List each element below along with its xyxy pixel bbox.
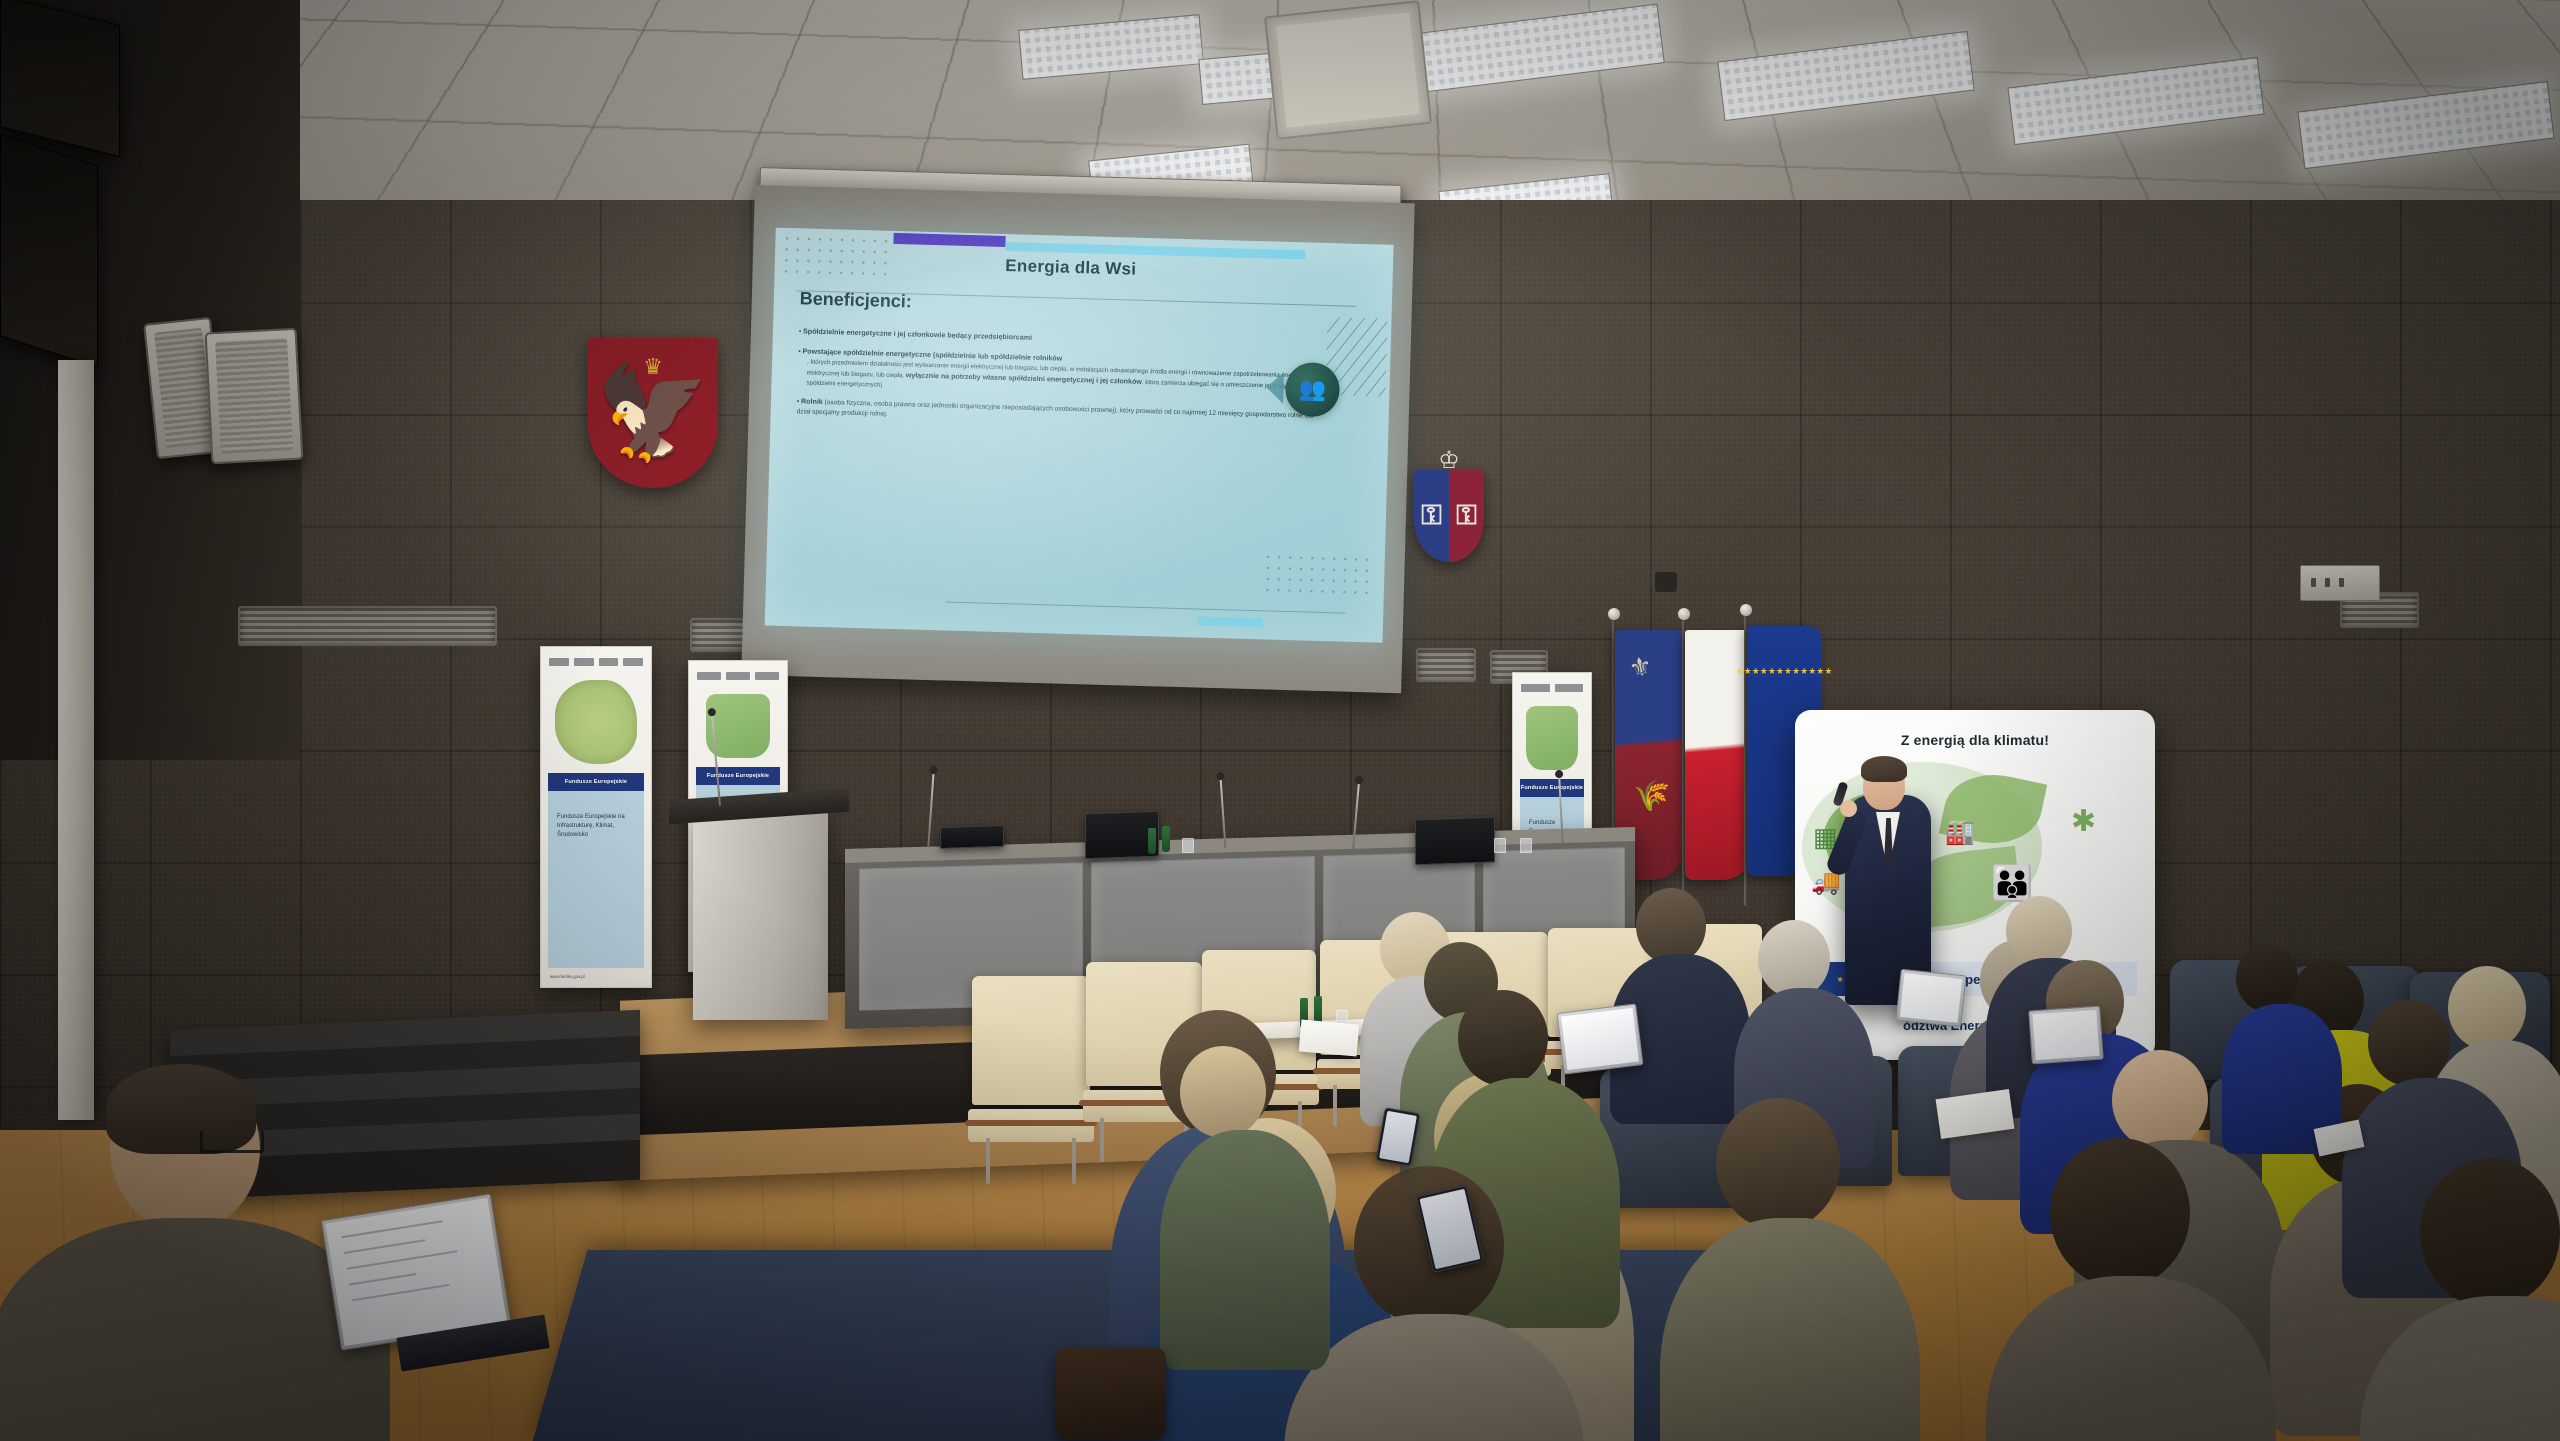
projection-screen: Energia dla Wsi Beneficjenci: • Spółdzie… <box>741 185 1414 693</box>
eagle-icon: 🦅 <box>596 367 711 459</box>
flag-finial-icon <box>1740 604 1752 616</box>
eyeglasses-icon <box>200 1130 264 1153</box>
rollup-illustration <box>1526 706 1577 770</box>
rollup-text: Fundusze Europejskie na Infrastrukturę, … <box>557 813 635 840</box>
loudspeaker <box>205 328 304 465</box>
wall-air-vent <box>238 606 497 646</box>
poland-map-graphic <box>555 680 636 764</box>
slide-dot-pattern-bottomright <box>1262 551 1371 598</box>
rollup-text-panel: Fundusze Europejskie na Infrastrukturę, … <box>548 791 644 968</box>
presentation-slide: Energia dla Wsi Beneficjenci: • Spółdzie… <box>765 228 1394 643</box>
drinking-glass <box>1494 838 1506 853</box>
wall-air-vent <box>1416 648 1476 682</box>
factory-icon: 🏭 <box>1945 818 1975 847</box>
ceiling-air-vent <box>1264 0 1432 140</box>
bullet-rest: (osoba fizyczna, osoba prawna oraz jedno… <box>797 399 1314 420</box>
rollup-strip-label: Fundusze Europejskie <box>1521 785 1583 791</box>
printed-handout <box>1299 1020 1360 1057</box>
slide-bottom-divider <box>945 601 1345 613</box>
regional-emblem-icon: ⚜ <box>1626 650 1655 685</box>
flag-poland <box>1682 620 1686 920</box>
rollup-strip: Fundusze Europejskie <box>696 767 780 785</box>
slide-triangle-accent <box>1266 371 1284 403</box>
desk-monitor <box>1415 817 1495 866</box>
flag-finial-icon <box>1608 608 1620 620</box>
rollup-strip-label: Fundusze Europejskie <box>565 779 627 785</box>
rollup-strip: Fundusze Europejskie <box>548 773 644 791</box>
wall-control-panel[interactable] <box>2300 565 2380 601</box>
slide-bottom-tab <box>1197 617 1263 628</box>
lectern <box>693 810 828 1020</box>
drinking-glass <box>1182 838 1194 853</box>
rollup-banner: Fundusze Europejskie Fundusze Europejski… <box>540 646 652 988</box>
slide-bullet-item: • Powstające spółdzielnie energetyczne (… <box>797 346 1318 402</box>
rollup-strip: Fundusze Europejskie <box>1520 779 1584 797</box>
wind-turbine-icon: ✱ <box>2071 804 2096 839</box>
drinking-glass <box>1520 838 1532 853</box>
rollup-url: www.feniks.gov.pl <box>550 974 642 979</box>
flag-finial-icon <box>1678 608 1690 620</box>
rollup-base <box>548 987 645 988</box>
stage-chair <box>972 976 1090 1184</box>
rollup-logo-row <box>549 654 643 670</box>
rollup-logo-row <box>1521 680 1583 696</box>
bullet-bold-lead: Rolnik <box>801 398 823 407</box>
wall-panel-dark <box>0 134 98 368</box>
flag-european-union: ★★★★★★★★★★★★ <box>1744 616 1748 906</box>
malopolska-coat-of-arms: ♔ ⚿⚿ <box>1414 470 1484 562</box>
tablet-device[interactable] <box>1557 1003 1644 1074</box>
presenter-hand <box>1840 800 1857 817</box>
crossed-keys-icon: ⚿⚿ <box>1414 470 1484 562</box>
water-bottle <box>1148 828 1156 854</box>
laptop-device[interactable] <box>2028 1006 2104 1065</box>
bullet-bold-lead: Spółdzielnie energetyczne i jej członkow… <box>803 327 1032 341</box>
wall-pillar <box>58 360 94 1120</box>
crown-icon: ♛ <box>643 354 663 380</box>
tablet-device[interactable] <box>1895 969 1966 1028</box>
slide-heading: Beneficjenci: <box>800 288 913 312</box>
water-bottle <box>1162 826 1170 852</box>
wheat-icon: 🌾 <box>1633 779 1670 814</box>
bullet-body-text: , których przedmiotem działalności jest … <box>806 358 1318 402</box>
slide-accent-bar-violet <box>893 233 1005 247</box>
slide-bullet-list: • Spółdzielnie energetyczne i jej członk… <box>796 326 1319 441</box>
wall-sensor-icon <box>1655 572 1677 592</box>
slide-corner-hatch <box>1325 317 1387 397</box>
presenter-hair <box>1861 756 1907 782</box>
rollup-logo-row <box>697 668 779 684</box>
desk-monitor <box>940 825 1004 849</box>
conference-hall-photo: Energia dla Wsi Beneficjenci: • Spółdzie… <box>0 0 2560 1441</box>
handbag <box>1056 1348 1166 1440</box>
polish-coat-of-arms: ♛ 🦅 <box>588 338 718 488</box>
backdrop-title: Z energią dla klimatu! <box>1795 732 2155 748</box>
slide-bullet-item: • Rolnik (osoba fizyczna, osoba prawna o… <box>797 396 1317 432</box>
